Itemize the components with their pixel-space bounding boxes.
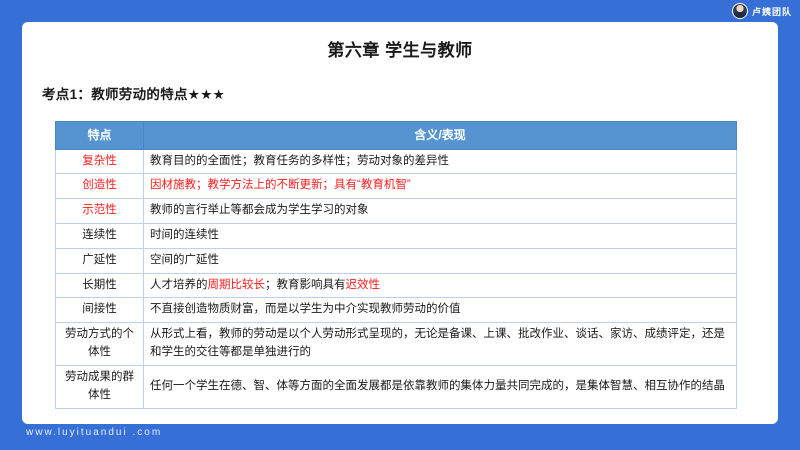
cell-meaning: 因材施教；教学方法上的不断更新；具有“教育机智”: [144, 174, 737, 199]
table-row: 示范性教师的言行举止等都会成为学生学习的对象: [56, 199, 737, 224]
table-row: 劳动方式的个 体性从形式上看，教师的劳动是以个人劳动形式呈现的，无论是备课、上课…: [56, 323, 737, 366]
cell-meaning: 任何一个学生在德、智、体等方面的全面发展都是依靠教师的集体力量共同完成的，是集体…: [144, 365, 737, 408]
column-header-meaning: 含义/表现: [144, 122, 737, 150]
cell-meaning: 不直接创造物质财富，而是以学生为中介实现教师劳动的价值: [144, 298, 737, 323]
cell-feature: 间接性: [56, 298, 144, 323]
cell-meaning: 从形式上看，教师的劳动是以个人劳动形式呈现的，无论是备课、上课、批改作业、谈话、…: [144, 323, 737, 366]
brand-name: 卢姨团队: [752, 5, 792, 18]
plain-text: 人才培养的: [150, 279, 208, 291]
section-heading: 考点1：教师劳动的特点★★★: [42, 83, 778, 103]
table-row: 连续性时间的连续性: [56, 224, 737, 249]
cell-feature: 示范性: [56, 199, 144, 224]
user-avatar-icon: [732, 3, 748, 19]
plain-text: ；教育影响具有: [265, 279, 346, 291]
table-header-row: 特点 含义/表现: [56, 122, 737, 150]
cell-meaning: 空间的广延性: [144, 248, 737, 273]
table-header: 特点 含义/表现: [56, 122, 737, 150]
cell-feature: 劳动方式的个 体性: [56, 323, 144, 366]
table-row: 复杂性教育目的的全面性；教育任务的多样性；劳动对象的差异性: [56, 149, 737, 174]
highlight-text: 周期比较长: [208, 279, 266, 291]
cell-feature: 长期性: [56, 273, 144, 298]
table-row: 创造性因材施教；教学方法上的不断更新；具有“教育机智”: [56, 174, 737, 199]
cell-meaning: 教师的言行举止等都会成为学生学习的对象: [144, 199, 737, 224]
cell-feature: 复杂性: [56, 149, 144, 174]
table-row: 劳动成果的群 体性任何一个学生在德、智、体等方面的全面发展都是依靠教师的集体力量…: [56, 365, 737, 408]
footer-watermark: www.luyituandui .com: [26, 427, 162, 438]
table-row: 间接性不直接创造物质财富，而是以学生为中介实现教师劳动的价值: [56, 298, 737, 323]
cell-feature: 广延性: [56, 248, 144, 273]
cell-meaning: 人才培养的周期比较长；教育影响具有迟效性: [144, 273, 737, 298]
highlight-text: 迟效性: [346, 279, 381, 291]
table-body: 复杂性教育目的的全面性；教育任务的多样性；劳动对象的差异性创造性因材施教；教学方…: [56, 149, 737, 408]
teacher-labor-characteristics-table: 特点 含义/表现 复杂性教育目的的全面性；教育任务的多样性；劳动对象的差异性创造…: [55, 121, 737, 409]
cell-feature: 创造性: [56, 174, 144, 199]
brand-logo: 卢姨团队: [732, 3, 792, 19]
cell-feature: 劳动成果的群 体性: [56, 365, 144, 408]
table-row: 长期性人才培养的周期比较长；教育影响具有迟效性: [56, 273, 737, 298]
cell-feature: 连续性: [56, 224, 144, 249]
table-container: 特点 含义/表现 复杂性教育目的的全面性；教育任务的多样性；劳动对象的差异性创造…: [55, 121, 778, 409]
cell-meaning: 时间的连续性: [144, 224, 737, 249]
page-title: 第六章 学生与教师: [22, 36, 778, 61]
slide-card: 第六章 学生与教师 考点1：教师劳动的特点★★★ 特点 含义/表现 复杂性教育目…: [22, 22, 778, 424]
cell-meaning: 教育目的的全面性；教育任务的多样性；劳动对象的差异性: [144, 149, 737, 174]
column-header-feature: 特点: [56, 122, 144, 150]
table-row: 广延性空间的广延性: [56, 248, 737, 273]
